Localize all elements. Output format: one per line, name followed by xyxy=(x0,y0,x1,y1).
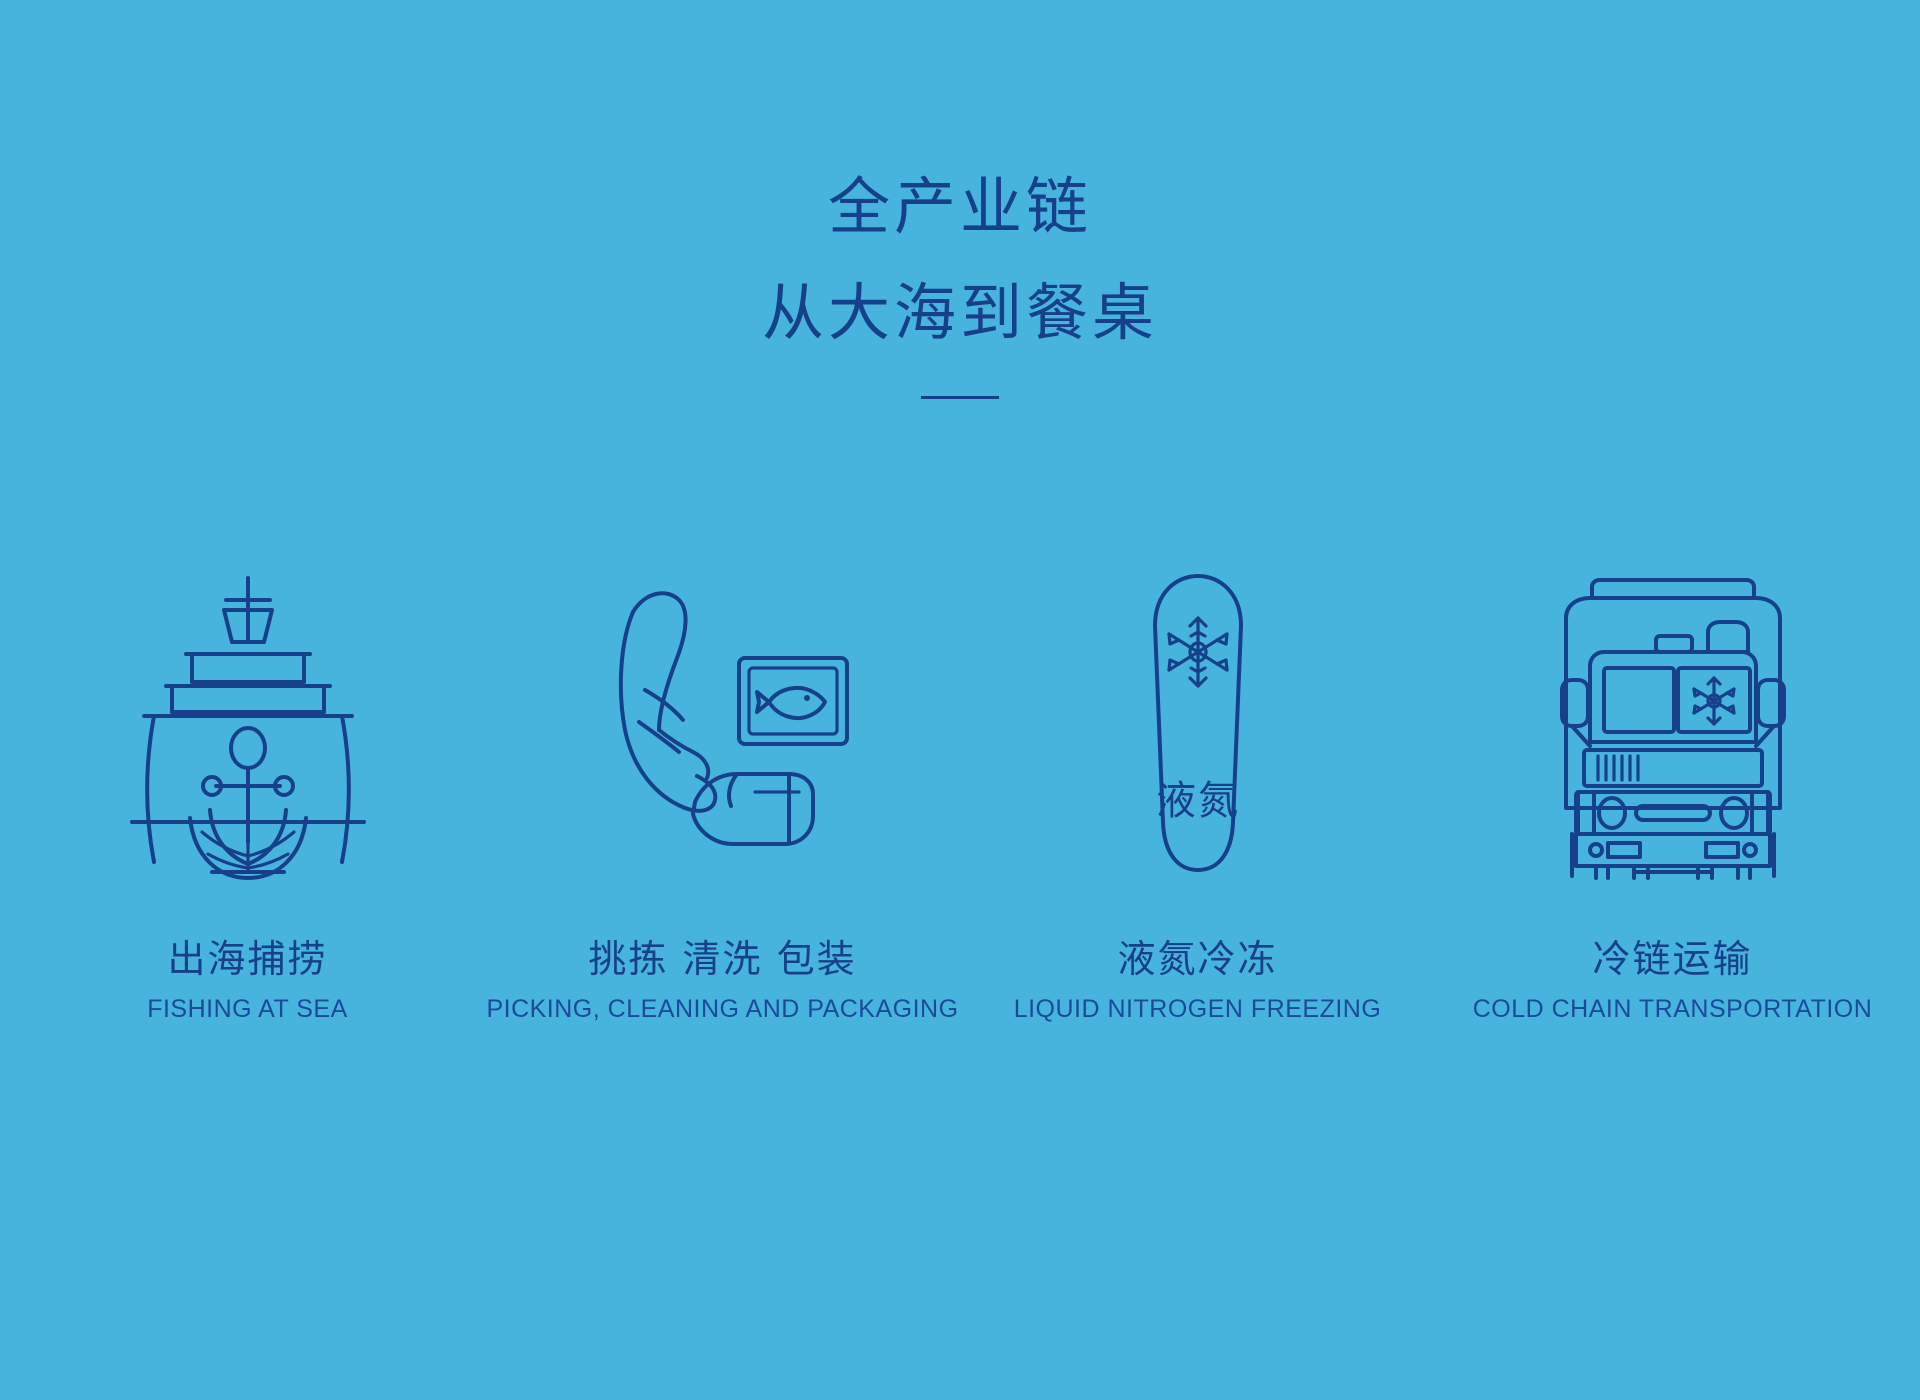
hands-packaged-fish-icon xyxy=(593,570,853,880)
refrigerated-truck-icon xyxy=(1548,570,1798,880)
icon-wrap-3: 液氮 xyxy=(1133,540,1263,880)
step-label-en: COLD CHAIN TRANSPORTATION xyxy=(1473,992,1873,1026)
step-liquid-nitrogen-freezing[interactable]: 液氮 液氮冷冻 LIQUID NITROGEN FREEZING xyxy=(960,540,1435,1026)
icon-wrap-4 xyxy=(1548,540,1798,880)
labels-4: 冷链运输 COLD CHAIN TRANSPORTATION xyxy=(1473,936,1873,1026)
snowflake-icon xyxy=(1694,678,1734,724)
labels-3: 液氮冷冻 LIQUID NITROGEN FREEZING xyxy=(1014,936,1382,1026)
step-label-cn: 挑拣 清洗 包装 xyxy=(486,936,958,982)
title-line-1: 全产业链 xyxy=(0,168,1920,246)
step-cold-chain-transportation[interactable]: 冷链运输 COLD CHAIN TRANSPORTATION xyxy=(1435,540,1910,1026)
infographic-page: 全产业链 从大海到餐桌 xyxy=(0,0,1920,1400)
step-fishing-at-sea[interactable]: 出海捕捞 FISHING AT SEA xyxy=(10,540,485,1026)
snowflake-icon xyxy=(1169,618,1227,686)
step-label-cn: 出海捕捞 xyxy=(147,936,348,982)
step-label-en: LIQUID NITROGEN FREEZING xyxy=(1014,992,1382,1026)
fishing-boat-anchor-icon xyxy=(128,570,368,880)
icon-wrap-2 xyxy=(593,540,853,880)
tank-label: 液氮 xyxy=(1156,778,1240,824)
step-label-en: PICKING, CLEANING AND PACKAGING xyxy=(486,992,958,1026)
labels-2: 挑拣 清洗 包装 PICKING, CLEANING AND PACKAGING xyxy=(486,936,958,1026)
icon-wrap-1 xyxy=(128,540,368,880)
step-label-en: FISHING AT SEA xyxy=(147,992,348,1026)
liquid-nitrogen-tank-icon: 液氮 xyxy=(1133,570,1263,880)
step-picking-cleaning-packaging[interactable]: 挑拣 清洗 包装 PICKING, CLEANING AND PACKAGING xyxy=(485,540,960,1026)
step-label-cn: 液氮冷冻 xyxy=(1014,936,1382,982)
process-steps: 出海捕捞 FISHING AT SEA xyxy=(0,540,1920,1026)
step-label-cn: 冷链运输 xyxy=(1473,936,1873,982)
page-title: 全产业链 从大海到餐桌 xyxy=(0,168,1920,399)
title-divider xyxy=(921,396,999,399)
labels-1: 出海捕捞 FISHING AT SEA xyxy=(147,936,348,1026)
title-line-2: 从大海到餐桌 xyxy=(0,274,1920,352)
